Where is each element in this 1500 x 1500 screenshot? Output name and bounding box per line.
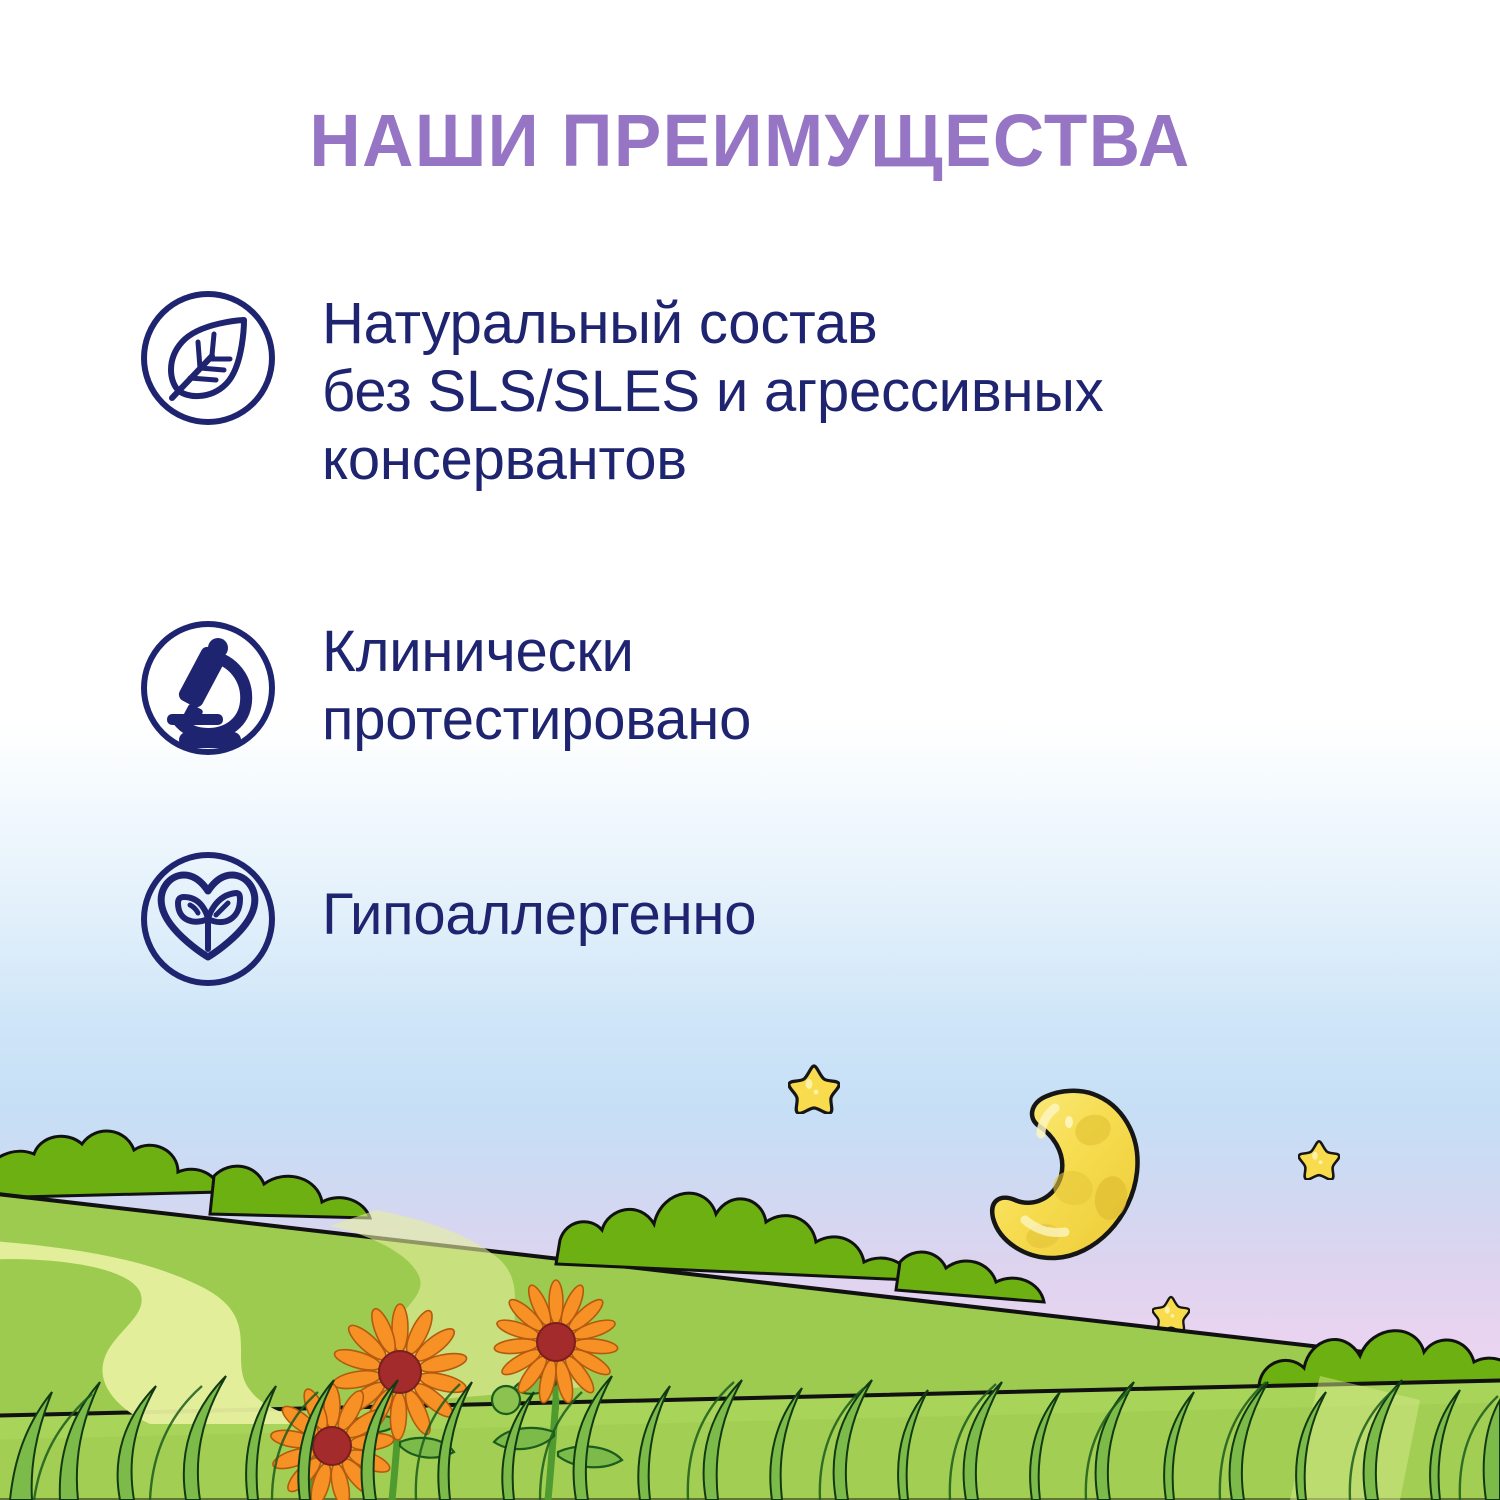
heart-sprout-in-circle-icon [134, 845, 282, 993]
benefit-item-natural-composition: Натуральный состав без SLS/SLES и агресс… [134, 284, 1104, 494]
benefit-item-hypoallergenic: Гипоаллергенно [134, 845, 756, 993]
promo-poster: НАШИ ПРЕИМУЩЕСТВА Натуральный состав без… [0, 0, 1500, 1500]
page-title: НАШИ ПРЕИМУЩЕСТВА [30, 104, 1470, 178]
benefit-label: Натуральный состав без SLS/SLES и агресс… [282, 284, 1104, 494]
leaf-in-circle-icon [134, 284, 282, 432]
benefit-label: Клинически протестировано [282, 614, 751, 754]
microscope-in-circle-icon [134, 614, 282, 762]
benefit-label: Гипоаллергенно [282, 845, 756, 949]
meadow-landscape-illustration [0, 1080, 1500, 1500]
benefit-item-clinically-tested: Клинически протестировано [134, 614, 751, 762]
